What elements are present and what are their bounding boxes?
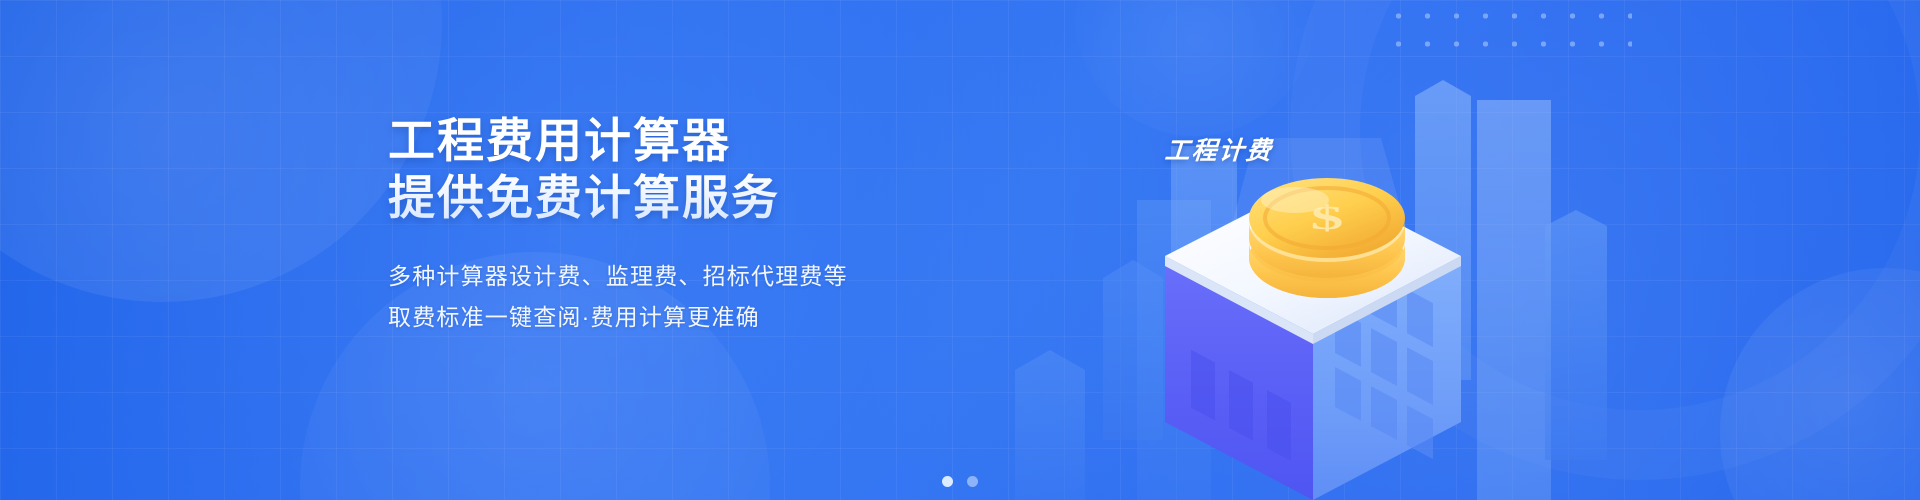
subtitle-line-1: 多种计算器设计费、监理费、招标代理费等 (388, 256, 988, 297)
subtitle-line-2: 取费标准一键查阅·费用计算更准确 (388, 297, 988, 338)
banner-subtitle: 多种计算器设计费、监理费、招标代理费等 取费标准一键查阅·费用计算更准确 (388, 256, 988, 338)
carousel-dot-2[interactable] (967, 476, 978, 487)
skyline-bar-f (1545, 210, 1607, 460)
headline-line-1: 工程费用计算器 (388, 112, 988, 169)
headline-line-2: 提供免费计算服务 (388, 169, 988, 226)
page-title: 工程费用计算器 提供免费计算服务 (388, 112, 988, 226)
decorative-circle-right (1720, 268, 1920, 500)
isometric-building-icon: $ (1105, 138, 1525, 500)
carousel-dots[interactable] (0, 476, 1920, 487)
banner-copy: 工程费用计算器 提供免费计算服务 多种计算器设计费、监理费、招标代理费等 取费标… (388, 112, 988, 338)
hero-banner: 工程费用计算器 提供免费计算服务 多种计算器设计费、监理费、招标代理费等 取费标… (0, 0, 1920, 500)
carousel-dot-1[interactable] (942, 476, 953, 487)
banner-illustration: 工程计费 (1085, 0, 1645, 500)
decorative-circle-top-left (0, 0, 442, 302)
